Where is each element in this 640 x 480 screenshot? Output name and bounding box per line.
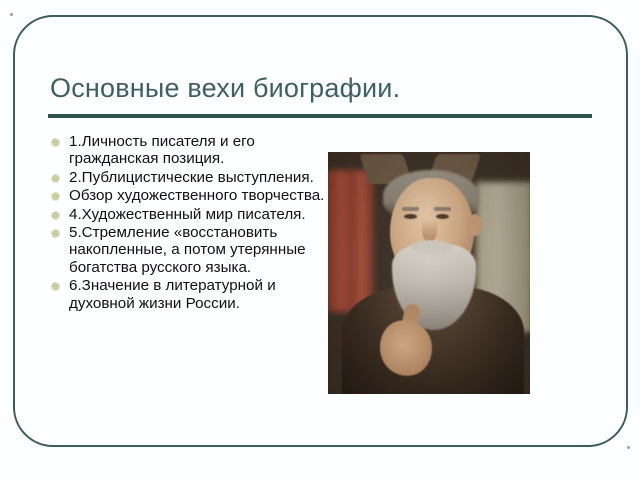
photo-soft-overlay (328, 152, 530, 394)
corner-dot-top-left (10, 13, 13, 16)
list-item: 6.Значение в литературной и духовной жиз… (44, 277, 332, 312)
list-item: 2.Публицистические выступления. (44, 169, 332, 186)
bullet-dot-icon (52, 212, 59, 219)
bullet-dot-icon (52, 230, 59, 237)
title-underline-rule (48, 114, 592, 118)
bullet-dot-icon (52, 283, 59, 290)
list-item-text: 4.Художественный мир писателя. (69, 206, 306, 223)
list-item-text: 1.Личность писателя и его гражданская по… (69, 133, 255, 167)
bullet-dot-icon (52, 175, 59, 182)
portrait-photo (328, 152, 530, 394)
list-item: 5.Стремление «восстановить накопленные, … (44, 224, 332, 276)
list-item-text: 5.Стремление «восстановить накопленные, … (69, 224, 306, 276)
list-item-text: 2.Публицистические выступления. (69, 169, 314, 186)
bullet-dot-icon (52, 193, 59, 200)
list-item: Обзор художественного творчества. (44, 187, 332, 204)
photo-canvas (328, 152, 530, 394)
list-item: 1.Личность писателя и его гражданская по… (44, 133, 332, 168)
list-item-text: 6.Значение в литературной и духовной жиз… (69, 277, 276, 311)
bullet-dot-icon (52, 139, 59, 146)
corner-dot-bottom-right (627, 446, 630, 449)
list-item: 4.Художественный мир писателя. (44, 206, 332, 223)
list-item-text: Обзор художественного творчества. (69, 187, 324, 204)
slide-title: Основные вехи биографии. (50, 72, 595, 104)
bullet-list: 1.Личность писателя и его гражданская по… (44, 133, 332, 313)
